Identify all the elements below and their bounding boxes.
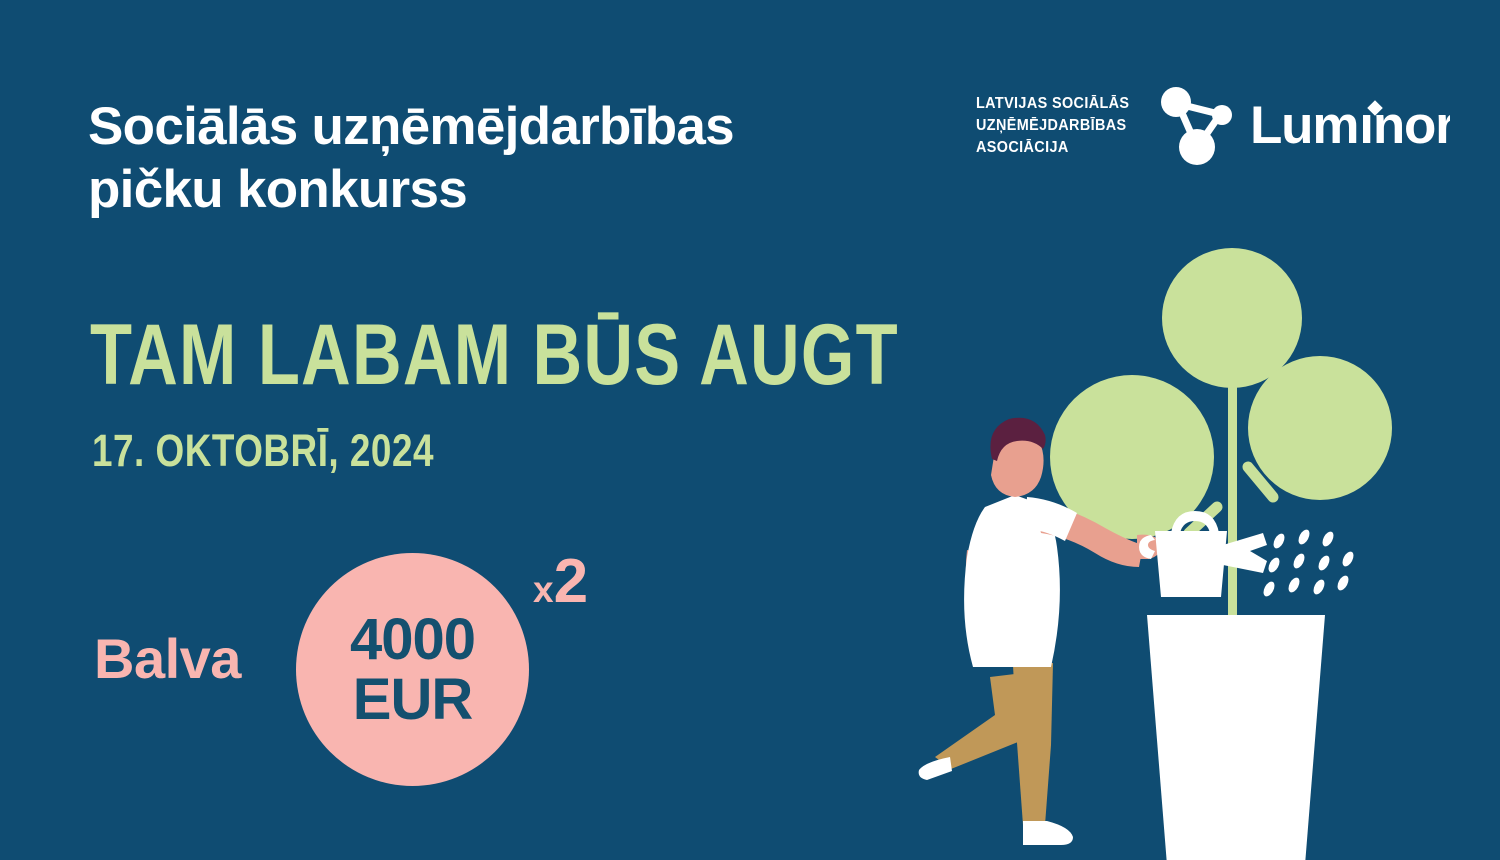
poster-subtitle: Sociālās uzņēmējdarbības pičku konkurss	[88, 96, 888, 221]
prize-label: Balva	[94, 631, 241, 687]
subtitle-line-1: Sociālās uzņēmējdarbības	[88, 96, 888, 159]
lsua-line-2: UZŅĒMĒJDARBĪBAS	[976, 115, 1129, 137]
person-watering-plant-illustration	[855, 245, 1500, 860]
poster-headline: TAM LABAM BŪS AUGT	[90, 312, 899, 398]
person-back-shoe	[919, 757, 952, 780]
plant-leaf-top	[1162, 248, 1302, 388]
prize-amount: 4000	[350, 610, 475, 670]
lsua-logo: LATVIJAS SOCIĀLĀS UZŅĒMĒJDARBĪBAS ASOCIĀ…	[976, 84, 1239, 168]
person-front-shoe	[1023, 821, 1073, 845]
promotional-poster: Sociālās uzņēmējdarbības pičku konkurss …	[0, 0, 1500, 860]
network-nodes-icon	[1157, 84, 1239, 168]
multiplier-count: 2	[554, 547, 588, 616]
event-date: 17. OKTOBRĪ, 2024	[92, 428, 434, 473]
luminor-text: Lumınor	[1250, 96, 1450, 155]
prize-currency: EUR	[353, 670, 472, 730]
person-front-leg	[1013, 663, 1053, 825]
subtitle-line-2: pičku konkurss	[88, 159, 888, 222]
prize-multiplier: x2	[533, 551, 588, 613]
lsua-line-3: ASOCIĀCIJA	[976, 137, 1129, 159]
luminor-wordmark: Lumınor	[1250, 96, 1450, 156]
plant-pot	[1147, 615, 1325, 860]
water-droplets	[1261, 528, 1355, 598]
luminor-logo: Lumınor	[1250, 96, 1450, 161]
multiplier-symbol: x	[533, 569, 554, 610]
plant-leaf-right	[1248, 356, 1392, 500]
watering-can-body	[1155, 531, 1227, 597]
lsua-line-1: LATVIJAS SOCIĀLĀS	[976, 93, 1129, 115]
lsua-logo-text: LATVIJAS SOCIĀLĀS UZŅĒMĒJDARBĪBAS ASOCIĀ…	[976, 93, 1129, 159]
prize-amount-badge: 4000 EUR	[296, 553, 529, 786]
